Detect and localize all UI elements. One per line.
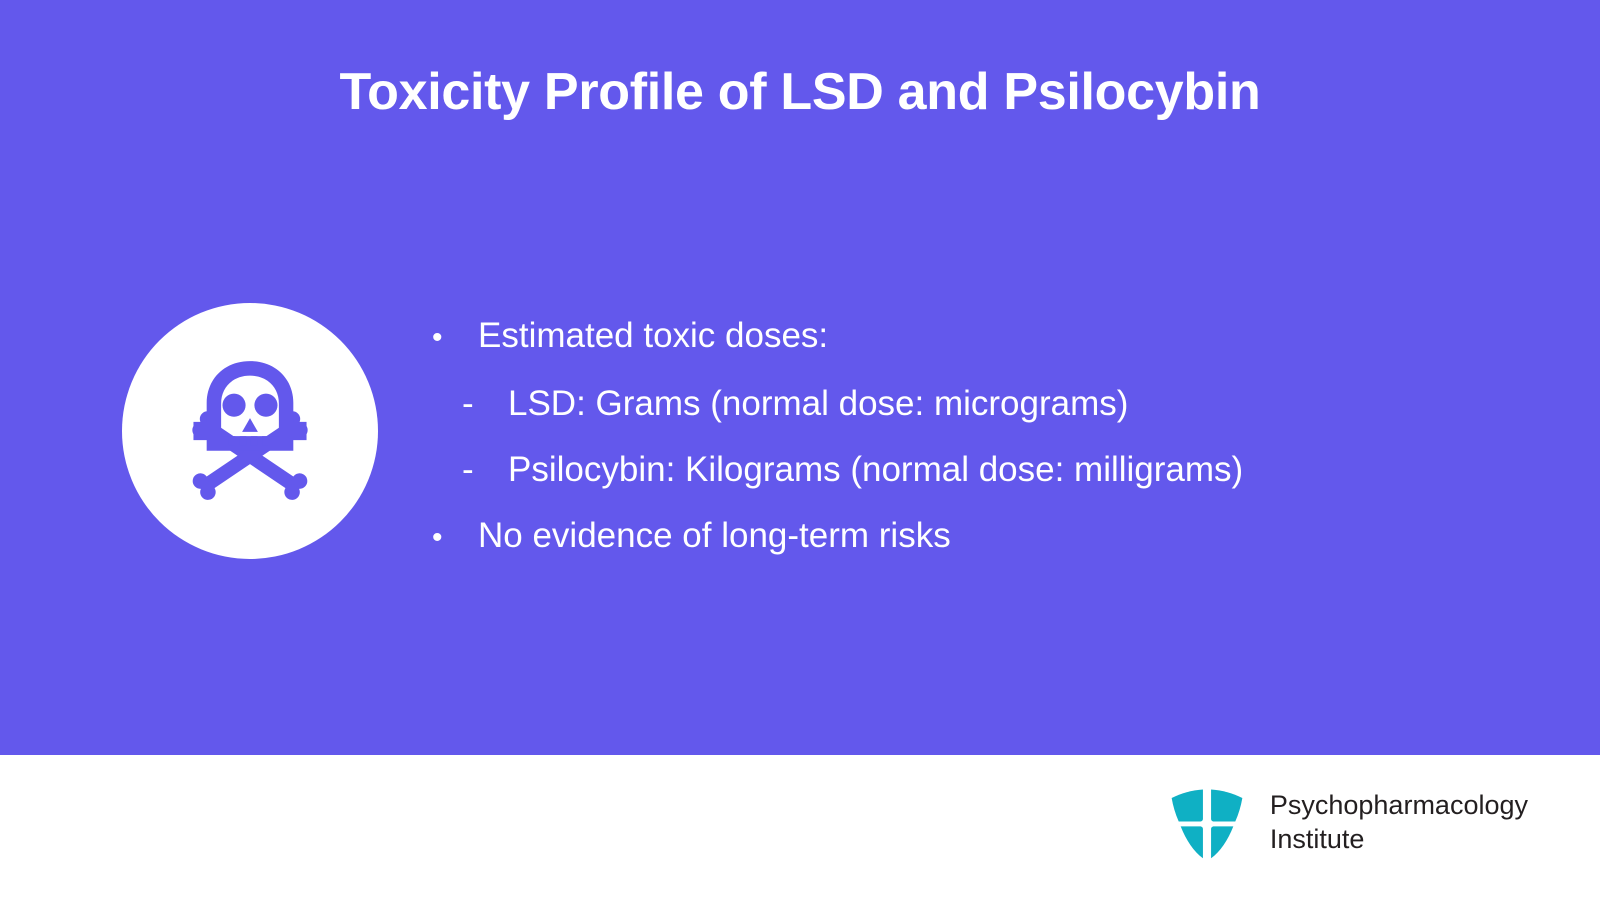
slide-body: Toxicity Profile of LSD and Psilocybin <box>0 0 1600 755</box>
list-item: • No evidence of long-term risks <box>432 503 1552 571</box>
bullet-text: Estimated toxic doses: <box>478 303 828 369</box>
shield-cross-icon <box>1166 783 1248 861</box>
page-title: Toxicity Profile of LSD and Psilocybin <box>0 63 1600 123</box>
bullet-text: LSD: Grams (normal dose: micrograms) <box>508 371 1128 437</box>
list-item: • Estimated toxic doses: <box>432 303 1552 371</box>
list-item: - Psilocybin: Kilograms (normal dose: mi… <box>432 437 1552 503</box>
skull-and-crossbones-icon <box>174 355 326 507</box>
bullet-text: Psilocybin: Kilograms (normal dose: mill… <box>508 437 1243 503</box>
slide-footer: Psychopharmacology Institute <box>0 755 1600 899</box>
bullet-marker: - <box>462 371 508 437</box>
brand-lockup: Psychopharmacology Institute <box>1166 783 1528 861</box>
bullet-text: No evidence of long-term risks <box>478 503 951 569</box>
brand-name: Psychopharmacology Institute <box>1270 788 1528 856</box>
slide: Toxicity Profile of LSD and Psilocybin <box>0 0 1600 899</box>
bullet-marker: • <box>432 305 478 371</box>
bullet-marker: - <box>462 437 508 503</box>
list-item: - LSD: Grams (normal dose: micrograms) <box>432 371 1552 437</box>
bullet-marker: • <box>432 505 478 571</box>
skull-icon-badge <box>122 303 378 559</box>
bullet-list: • Estimated toxic doses: - LSD: Grams (n… <box>432 303 1552 571</box>
